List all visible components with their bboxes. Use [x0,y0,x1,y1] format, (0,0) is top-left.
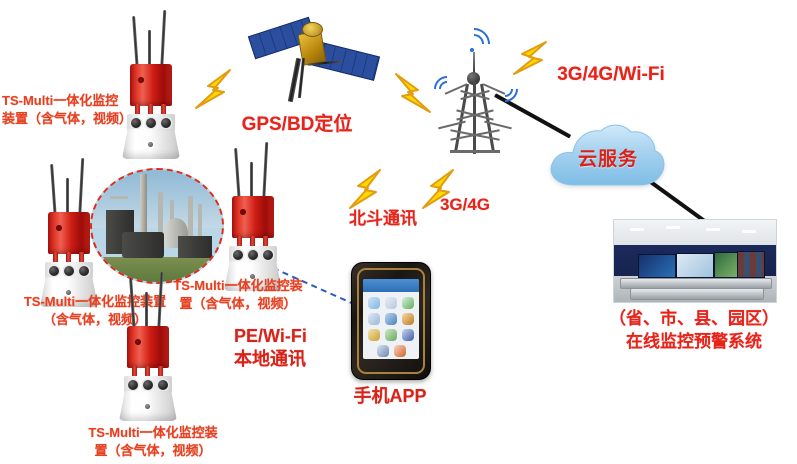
device-bottom-label: TS-Multi一体化监控装置（含气体，视频） [70,424,236,459]
device-mid-center-label-line2: 置（含气体，视频） [179,296,296,311]
app-icon-gallery[interactable] [368,329,380,341]
app-icon-run[interactable] [394,345,406,357]
video-wall-panel-4 [737,251,765,278]
ceiling-light-1 [630,228,644,231]
device-sensor-port-mid [64,266,74,276]
device-base-indicator [145,404,150,409]
label-3g4g-wifi: 3G/4G/Wi-Fi [546,62,676,88]
label-local-comm-line1: PE/Wi-Fi [234,326,307,346]
video-wall-panel-3 [714,252,738,278]
label-3g4g: 3G/4G [432,194,498,217]
video-wall-panel-2 [676,253,714,278]
app-icon-chart[interactable] [385,313,397,325]
ceiling-light-3 [706,228,720,231]
plant-building-right [178,236,212,258]
device-sensor-port-mid [143,380,153,390]
device-mid-center[interactable] [212,140,298,292]
label-local-comm: PE/Wi-Fi本地通讯 [234,325,342,370]
label-gps-bd: GPS/BD定位 [222,112,372,138]
app-icon-map[interactable] [385,329,397,341]
bolt-gps-left [190,68,246,114]
app-icon-settings[interactable] [402,297,414,309]
device-top-left[interactable] [110,8,196,160]
control-center-photo [613,219,777,303]
label-local-comm-line2: 本地通讯 [234,349,306,369]
app-icon-docs[interactable] [368,313,380,325]
device-sensor-port-left [128,380,138,390]
plant-building-mid [122,232,164,258]
bolt-gps-right [380,72,436,118]
device-antenna-right [262,142,268,204]
device-mid-left[interactable] [28,156,114,308]
device-sensor-port-right [158,380,168,390]
app-icon-alarm[interactable] [402,313,414,325]
label-phone-app: 手机APP [342,384,438,408]
plant-chimney [140,174,147,240]
label-control-center-line2: 在线监控预警系统 [626,332,762,351]
device-red-body [48,212,90,254]
device-bottom-label-line2: 置（含气体，视频） [94,443,211,458]
device-sensor-port-mid [248,250,258,260]
communication-tower [432,22,518,156]
ceiling-light-4 [742,230,756,233]
device-red-body [127,326,169,368]
device-sensor-port-right [79,266,89,276]
diagram-canvas: 云服务 [0,0,797,464]
operator-desk-row-2 [630,288,764,300]
device-sensor-port-left [49,266,59,276]
cloud-service-label: 云服务 [568,144,648,171]
phone-screen[interactable] [363,279,419,359]
tower-base [450,150,500,153]
label-control-center: （省、市、县、园区）在线监控预警系统 [596,308,792,354]
satellite-dish [302,22,323,37]
device-top-left-label: TS-Multi一体化监控装置（含气体，视频） [2,92,152,127]
device-red-body [232,196,274,238]
label-beidou: 北斗通讯 [342,208,424,231]
device-sensor-port-right [263,250,273,260]
video-wall-panel-1 [638,254,676,278]
device-base-indicator [148,142,153,147]
device-top-left-label-line2: 装置（含气体，视频） [2,111,132,126]
device-antenna-right [160,10,166,72]
device-bottom-label-line1: TS-Multi一体化监控装 [88,425,217,440]
device-antenna-right [157,272,163,334]
app-icon-compass[interactable] [377,345,389,357]
satellite [248,14,378,110]
label-control-center-line1: （省、市、县、园区） [609,309,779,328]
device-antenna-right [78,158,84,220]
app-icon-user[interactable] [385,297,397,309]
phone-status-bar [363,279,419,292]
device-bottom[interactable] [107,270,193,422]
device-top-left-label-line1: TS-Multi一体化监控 [2,93,118,108]
device-sensor-port-right [161,118,171,128]
app-icon-home[interactable] [368,297,380,309]
app-icon-pause[interactable] [402,329,414,341]
mobile-app-device[interactable] [351,262,431,380]
device-sensor-port-left [233,250,243,260]
ceiling-light-2 [666,226,680,229]
